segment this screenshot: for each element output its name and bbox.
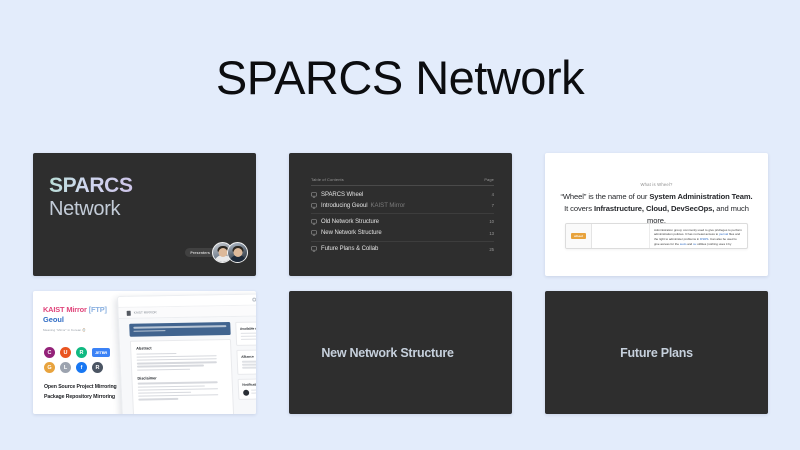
slide-thumbnail-kaist-mirror-geoul[interactable]: KAIST Mirror [FTP] Geoul Meaning “Mirror… [33, 291, 256, 414]
doc-text-line [138, 388, 218, 391]
doc-section-heading: Abstract [136, 345, 225, 351]
doc-text-line [137, 368, 190, 370]
toc-group: Future Plans & Collab 25 [311, 244, 494, 255]
doc-text-line [138, 385, 205, 387]
avatar-face [218, 248, 227, 257]
jetbrains-icon: JETBR [92, 348, 110, 357]
browser-tab-title: KAIST MIRROR [134, 310, 157, 314]
toc-item-new-network-structure[interactable]: New Network Structure 13 [311, 228, 494, 239]
rocky-linux-icon: R [76, 347, 87, 358]
wheel-statement-line1: “Wheel” is the name of our System Admini… [555, 191, 758, 203]
slide-thumbnail-title[interactable]: SPARCS Network Presenters [33, 153, 256, 276]
doc-text-line [137, 365, 204, 367]
doc-text-line [137, 355, 217, 358]
avatar [227, 242, 248, 263]
toc-item-page: 10 [489, 219, 494, 224]
doc-text-line [136, 353, 176, 355]
avatar-face [233, 248, 242, 257]
toc-group: Old Network Structure 10 New Network Str… [311, 216, 494, 238]
sidebar-text-line [240, 335, 256, 337]
sidebar-text-line [240, 338, 256, 340]
toc-item-label: Introducing Geoul [321, 203, 368, 209]
notification-text [251, 389, 256, 395]
presentation-icon [311, 219, 317, 225]
geoul-tag: [FTP] [89, 305, 107, 314]
toc-item-label: Future Plans & Collab [321, 246, 378, 252]
sidebar-text-line [251, 392, 256, 394]
linux-icon: L [60, 362, 71, 373]
wheel-statement: “Wheel” is the name of our System Admini… [555, 191, 758, 226]
wheel-card-description: Administration group; commonly used to g… [650, 224, 747, 248]
sidebar-card-title: Available ng... [240, 326, 256, 331]
banner-text-line [133, 330, 165, 332]
section-title: New Network Structure [289, 346, 512, 360]
doc-section-heading: Disclaimer [137, 375, 226, 381]
document-icon [127, 310, 131, 315]
toc-item-page: 25 [489, 247, 494, 252]
toc-divider [311, 241, 494, 242]
geoul-heading-block: KAIST Mirror [FTP] Geoul Meaning “Mirror… [43, 305, 117, 332]
doc-text-line [138, 398, 178, 400]
slide-thumbnail-what-is-wheel[interactable]: What is Wheel? “Wheel” is the name of ou… [545, 153, 768, 276]
toc-item-sparcs-wheel[interactable]: SPARCS Wheel 4 [311, 189, 494, 200]
title-slide-heading: SPARCS Network [49, 175, 133, 221]
sidebar-text-line [242, 367, 256, 369]
toc-item-page: 4 [492, 192, 494, 197]
doc-text-line [137, 358, 217, 361]
sidebar-text-line [241, 364, 256, 366]
toc-item-future-plans-collab[interactable]: Future Plans & Collab 25 [311, 244, 494, 255]
toc-header-left: Table of Contents [311, 177, 344, 182]
wheel-line2-prefix: It covers [564, 204, 594, 213]
centos-icon: C [44, 347, 55, 358]
browser-main-column: Abstract Disclaimer [129, 322, 234, 414]
toc-item-label: New Network Structure [321, 230, 382, 236]
browser-page-body: Abstract Disclaimer [119, 316, 256, 414]
geoul-subheading: Geoul [43, 315, 117, 324]
wheel-eyebrow: What is Wheel? [545, 182, 768, 187]
toc-item-page: 7 [492, 203, 494, 208]
toc-item-sublabel: KAIST Mirror [371, 203, 406, 209]
doc-text-line [137, 361, 217, 364]
toc-group: SPARCS Wheel 4 Introducing Geoul KAIST M… [311, 189, 494, 211]
sidebar-card-notifications: Notifications [238, 378, 256, 400]
sidebar-text-line [241, 361, 256, 363]
page-document: Abstract Disclaimer [130, 339, 235, 414]
title-slide-heading-line1: SPARCS [49, 175, 133, 197]
slide-deck-overview: SPARCS Network SPARCS Network Presenters [0, 0, 800, 450]
slide-thumbnail-table-of-contents[interactable]: Table of Contents Page SPARCS Wheel 4 In… [289, 153, 512, 276]
page-notice-banner [129, 322, 231, 337]
presentation-icon [311, 203, 317, 209]
sidebar-card-available: Available ng... [235, 321, 256, 346]
banner-text-line [133, 325, 226, 328]
slide-thumbnail-new-network-structure[interactable]: New Network Structure [289, 291, 512, 414]
presentation-icon [311, 246, 317, 252]
wheel-badge-cell: wheel [566, 224, 592, 248]
status-badge: wheel [571, 233, 586, 239]
sidebar-card-alliance: Alliance [236, 350, 256, 375]
table-of-contents: Table of Contents Page SPARCS Wheel 4 In… [311, 177, 494, 257]
facebook-icon: f [76, 362, 87, 373]
wheel-card-spacer-cell [592, 224, 650, 248]
browser-screenshot-mock: ftp.kaist.ac.kr KAIST MIRROR Abstract [117, 293, 256, 414]
journal-link[interactable]: journal [719, 232, 728, 236]
sidebar-text-line [240, 332, 256, 334]
section-title: Future Plans [545, 346, 768, 360]
presentation-icon [311, 192, 317, 198]
notification-item [243, 389, 256, 396]
slide-grid: SPARCS Network Presenters [33, 153, 768, 414]
wheel-line1-bold: System Administration Team. [649, 192, 752, 201]
toc-item-page: 13 [489, 231, 494, 236]
sidebar-text-line [251, 389, 256, 391]
mirror-logos: C U R JETBR G L f R [44, 347, 120, 373]
toc-item-label: Old Network Structure [321, 219, 379, 225]
doc-text-line [138, 382, 218, 385]
wheel-definition-card: wheel Administration group; commonly use… [565, 223, 748, 249]
toc-item-old-network-structure[interactable]: Old Network Structure 10 [311, 216, 494, 227]
gnome-icon: G [44, 362, 55, 373]
sidebar-card-title: Notifications [242, 383, 256, 388]
wheel-line2-bold: Infrastructure, Cloud, DevSecOps, [594, 204, 714, 213]
doc-text-line [138, 392, 191, 394]
presenters-group: Presenters [185, 242, 248, 263]
ubuntu-icon: U [60, 347, 71, 358]
toc-item-introducing-geoul[interactable]: Introducing Geoul KAIST Mirror 7 [311, 200, 494, 211]
doc-text-line [138, 394, 218, 397]
wheel-line1-prefix: “Wheel” is the name of our [560, 192, 649, 201]
title-slide-heading-line2: Network [49, 198, 133, 221]
toc-item-label: SPARCS Wheel [321, 192, 363, 198]
cran-r-icon: R [92, 362, 103, 373]
toc-divider [311, 213, 494, 214]
presentation-icon [311, 230, 317, 236]
geoul-heading: KAIST Mirror [FTP] [43, 305, 117, 314]
page-title: SPARCS Network [0, 52, 800, 104]
toc-header: Table of Contents Page [311, 177, 494, 185]
geoul-subtitle: Meaning “Mirror” in Korean 🪞 [43, 328, 117, 332]
geoul-brand: KAIST Mirror [43, 305, 87, 314]
toc-header-right: Page [484, 177, 494, 182]
info-icon [252, 298, 256, 302]
browser-sidebar: Available ng... Alliance Notif [235, 321, 256, 414]
slide-thumbnail-future-plans[interactable]: Future Plans [545, 291, 768, 414]
toc-header-rule [311, 185, 494, 186]
sidebar-card-title: Alliance [241, 354, 256, 359]
notification-avatar [243, 390, 249, 396]
